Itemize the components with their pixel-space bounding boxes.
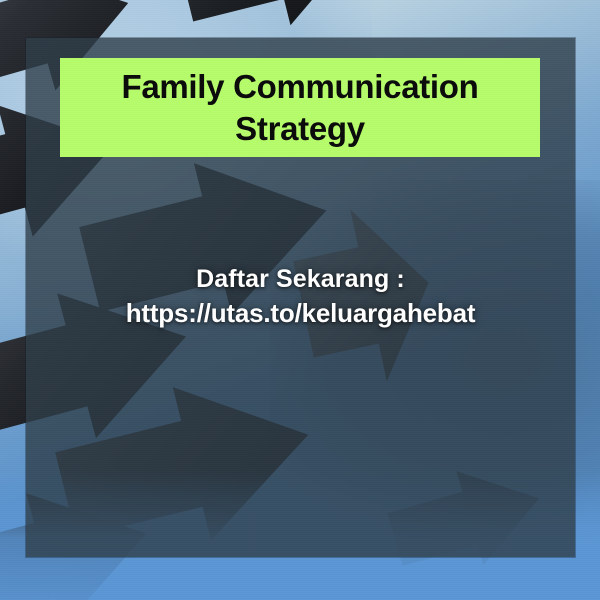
promotional-poster: Family Communication Strategy Daftar Sek… (0, 0, 600, 600)
call-to-action-block: Daftar Sekarang : https://utas.to/keluar… (26, 262, 575, 330)
page-title-line-1: Family Communication (121, 66, 478, 108)
cta-label: Daftar Sekarang : (26, 262, 575, 296)
title-banner: Family Communication Strategy (60, 58, 540, 157)
registration-url[interactable]: https://utas.to/keluargahebat (26, 296, 575, 330)
page-title-line-2: Strategy (235, 108, 365, 150)
